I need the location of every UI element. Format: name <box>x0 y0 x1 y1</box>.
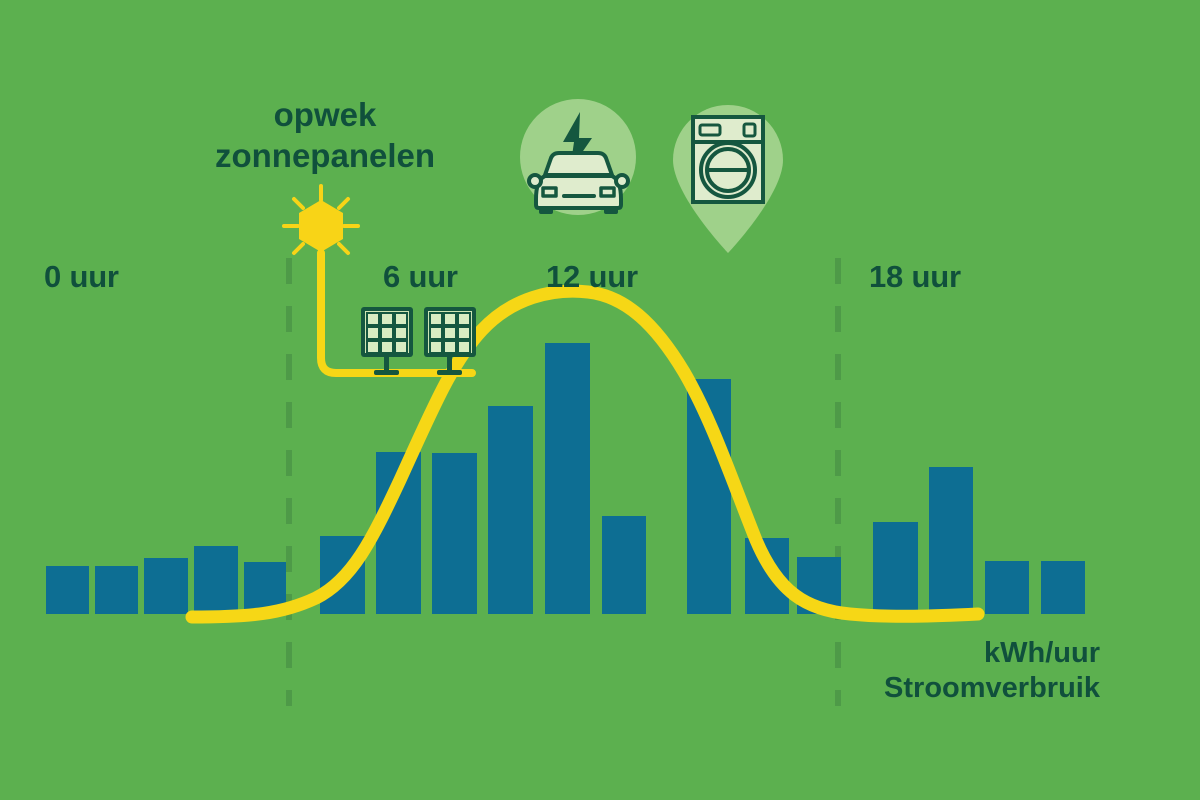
bar-16 <box>985 561 1029 614</box>
y-axis-unit: kWh/uur <box>884 636 1100 671</box>
bar-1 <box>95 566 138 614</box>
washing-machine-icon <box>693 117 763 202</box>
infographic-canvas: opwek zonnepanelen 0 uur 6 uur 12 uur 18… <box>0 0 1200 800</box>
washing-machine-badge[interactable] <box>673 105 783 253</box>
ev-car-badge[interactable] <box>520 99 636 215</box>
time-label-0-uur: 0 uur <box>44 259 119 295</box>
page-title: opwek zonnepanelen <box>140 95 510 177</box>
bar-9 <box>545 343 590 614</box>
bar-14 <box>873 522 918 614</box>
bar-17 <box>1041 561 1085 614</box>
time-label-6-uur: 6 uur <box>383 259 458 295</box>
time-label-12-uur: 12 uur <box>546 259 638 295</box>
headline-line-2: zonnepanelen <box>140 136 510 177</box>
sun-icon <box>284 186 358 267</box>
y-axis-title: Stroomverbruik <box>884 671 1100 706</box>
bar-0 <box>46 566 89 614</box>
bar-8 <box>488 406 533 614</box>
bar-15 <box>929 467 973 614</box>
bar-series <box>46 343 1085 614</box>
bar-2 <box>144 558 188 614</box>
bar-7 <box>432 453 477 614</box>
headline-line-1: opwek <box>140 95 510 136</box>
y-axis-label: kWh/uur Stroomverbruik <box>884 636 1100 707</box>
solar-panel-icon <box>424 307 476 375</box>
solar-panel-icon <box>361 307 413 375</box>
time-label-18-uur: 18 uur <box>869 259 961 295</box>
bar-10 <box>602 516 646 614</box>
bar-3 <box>194 546 238 614</box>
